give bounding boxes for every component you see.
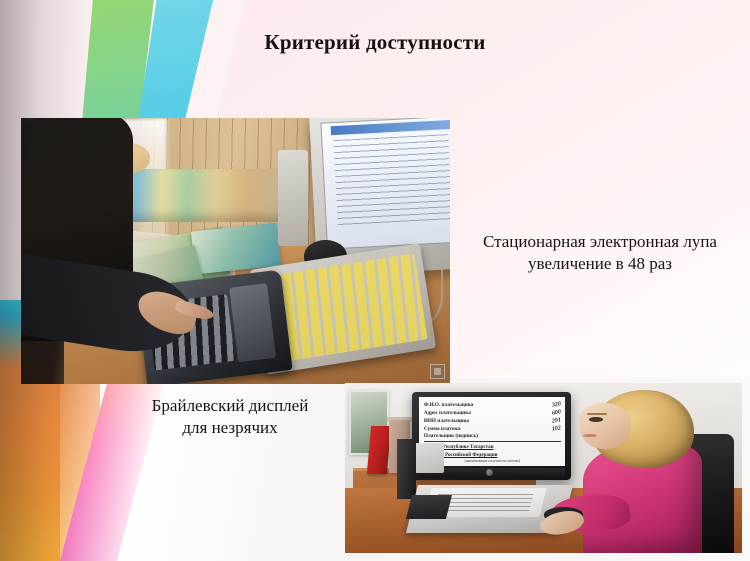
magnifier-form-note: (наименование получателя платежа) (424, 459, 561, 464)
magnifier-form-value: 102 (551, 424, 561, 433)
braille-fabric-pile (115, 169, 295, 222)
slide-canvas: Критерий доступности (0, 0, 750, 561)
braille-screen-titlebar (330, 121, 450, 136)
magnifier-form-label: ИНН плательщика (424, 418, 469, 425)
magnifier-tray-dark-panel (406, 495, 452, 519)
magnifier-form-row: Плательщик (подпись) (424, 433, 561, 440)
braille-display-bar (230, 283, 277, 362)
caption-magnifier-line-1: Стационарная электронная лупа (455, 231, 745, 253)
braille-monitor-screen (321, 118, 450, 250)
magnifier-form-label: Ф.И.О. плательщика (424, 402, 473, 409)
page-title: Критерий доступности (0, 30, 750, 55)
magnifier-form-row: Адрес плательщика 600 (424, 409, 561, 417)
magnifier-form-footer-1: УФК по Республике Татарстан (424, 444, 561, 452)
photo-braille-display (21, 118, 450, 384)
caption-braille-line-2: для незрячих (95, 417, 365, 439)
magnifier-stand-column (397, 439, 417, 499)
caption-braille-display: Брайлевский дисплей для незрячих (95, 395, 365, 439)
magnifier-red-book (367, 426, 391, 474)
braille-person-head (21, 118, 31, 158)
magnifier-form-label: Плательщик (подпись) (424, 433, 478, 440)
photo-watermark-icon (430, 364, 445, 379)
magnifier-woman-eyebrow (587, 413, 607, 415)
photo-electronic-magnifier: Ф.И.О. плательщика 320 Адрес плательщика… (345, 383, 742, 553)
magnifier-form-row: Сумма платежа 102 (424, 425, 561, 433)
magnifier-form-row: ИНН плательщика 291 (424, 417, 561, 425)
magnifier-form-footer-2: юстиции Российской Федерации (424, 452, 561, 460)
caption-magnifier: Стационарная электронная лупа увеличение… (455, 231, 745, 275)
magnifier-form-divider (424, 441, 561, 442)
caption-magnifier-line-2: увеличение в 48 раз (455, 253, 745, 275)
braille-speaker (278, 150, 308, 246)
magnifier-woman-face (579, 403, 631, 449)
braille-screen-text-lines (333, 135, 450, 229)
magnifier-form-row: Ф.И.О. плательщика 320 (424, 401, 561, 409)
magnifier-form-label: Адрес плательщика (424, 410, 471, 417)
caption-braille-line-1: Брайлевский дисплей (95, 395, 365, 417)
magnifier-monitor-power-icon (486, 469, 493, 476)
